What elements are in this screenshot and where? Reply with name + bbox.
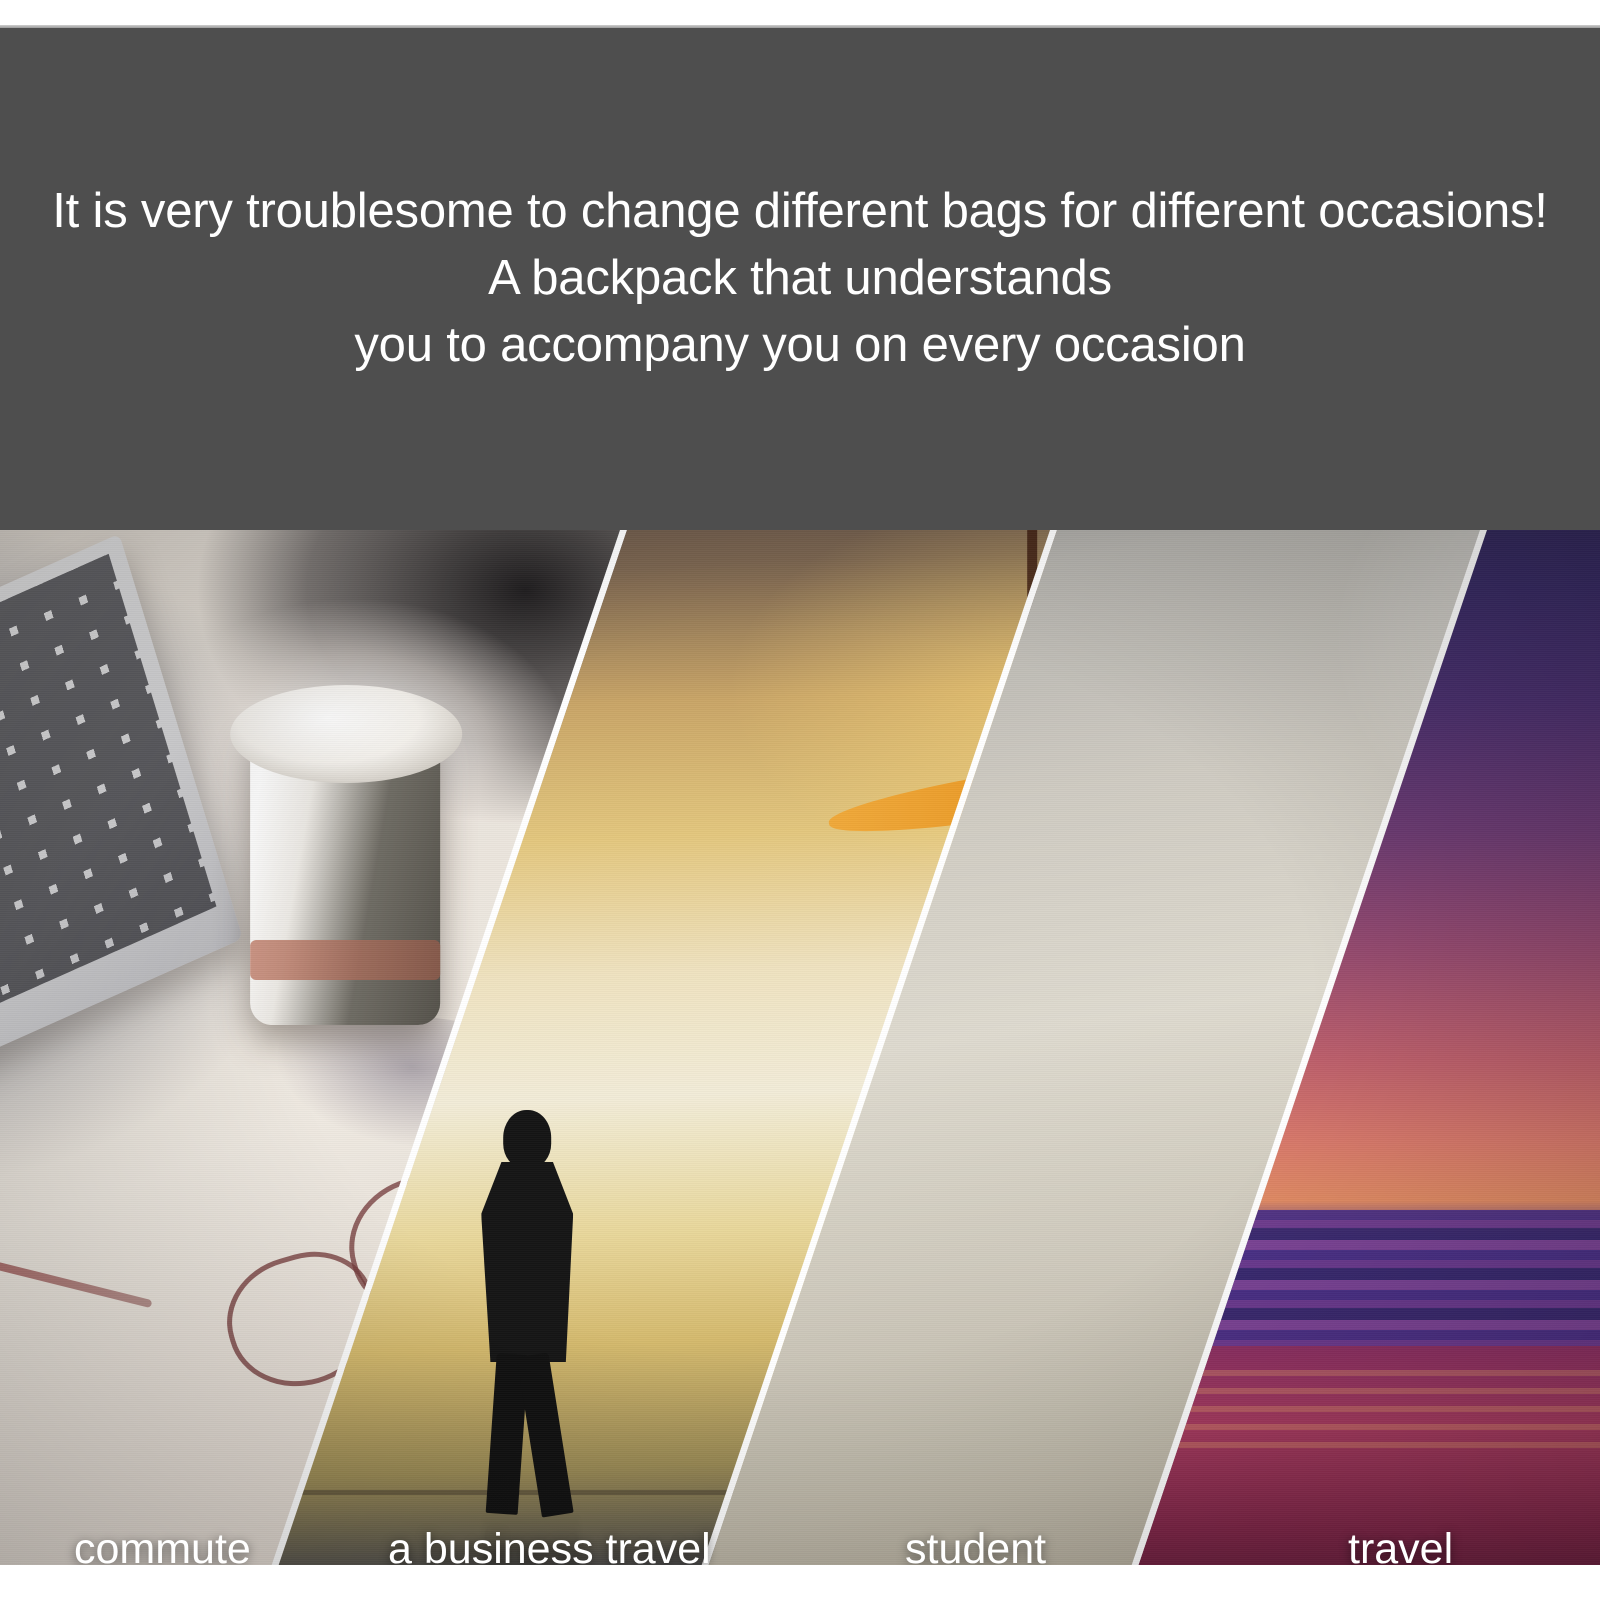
coffee-cup-sleeve <box>250 940 440 980</box>
headline-line-1: It is very troublesome to change differe… <box>52 178 1547 245</box>
coffee-cup-lid <box>230 685 462 783</box>
headline-line-3: you to accompany you on every occasion <box>354 312 1245 379</box>
panel-label-business-travel: a business travel <box>388 1528 711 1565</box>
pen-icon <box>0 1240 152 1308</box>
slide-root: It is very troublesome to change differe… <box>0 0 1600 1600</box>
occasion-collage: commute a business travel student travel <box>0 530 1600 1565</box>
businessman-torso <box>481 1162 573 1362</box>
businessman-silhouette-icon <box>467 1110 587 1510</box>
top-white-margin <box>0 0 1600 25</box>
businessman-head <box>503 1110 551 1168</box>
panel-label-commute: commute <box>74 1528 251 1565</box>
businessman-leg-right <box>517 1352 574 1517</box>
panel-label-travel: travel <box>1348 1528 1453 1565</box>
bottom-white-margin <box>0 1565 1600 1600</box>
keyboard-icon <box>0 534 243 1166</box>
headline-line-2: A backpack that understands <box>488 245 1112 312</box>
panel-label-student: student <box>905 1528 1046 1565</box>
headline-banner: It is very troublesome to change differe… <box>0 28 1600 530</box>
